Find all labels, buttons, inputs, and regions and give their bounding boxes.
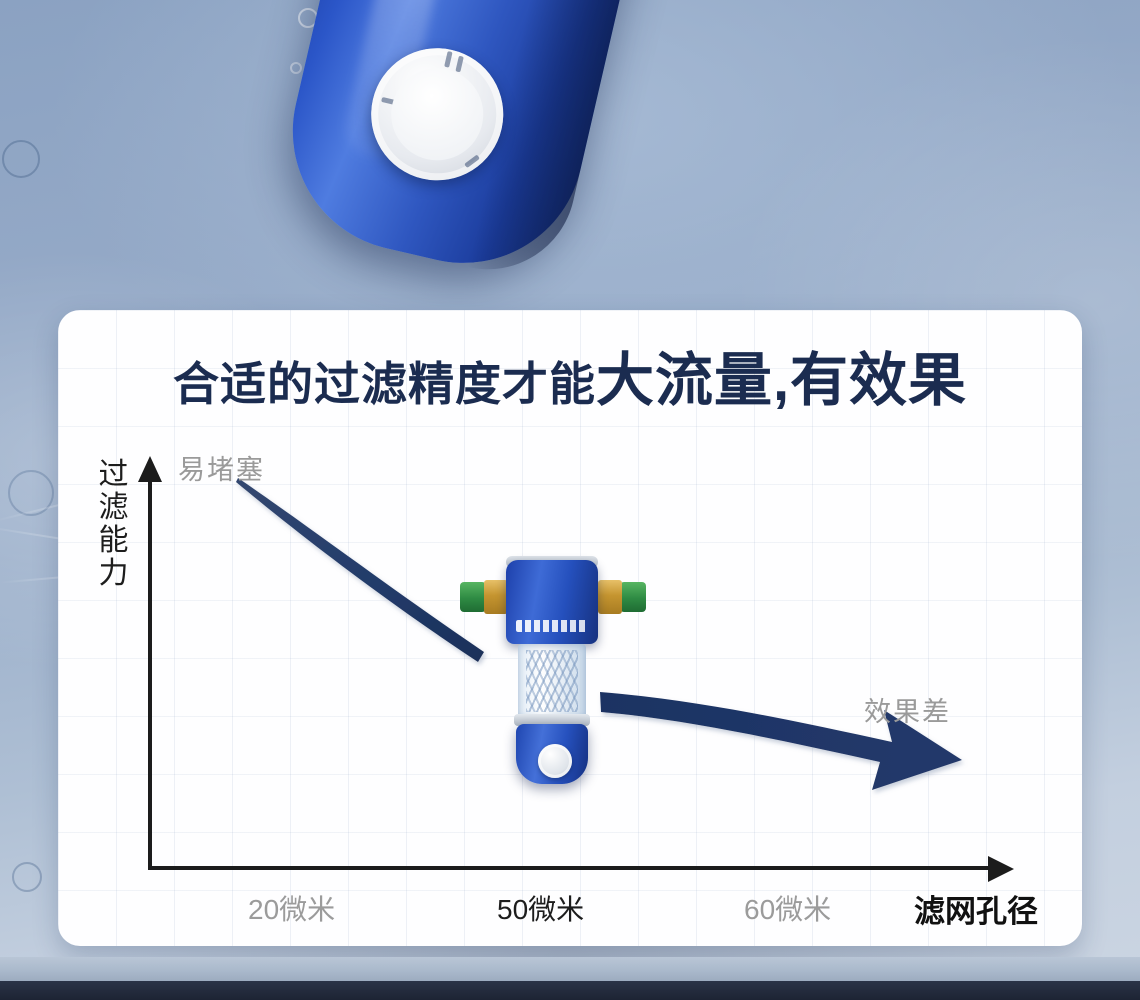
title-part-small: 合适的过滤精度才能 <box>173 358 596 410</box>
dial-tick <box>455 56 463 73</box>
pre-filter-product-image <box>466 548 640 788</box>
drain-valve-knob-icon <box>538 744 572 778</box>
x-tick-60: 60微米 <box>744 888 831 928</box>
annotation-poor-effect: 效果差 <box>864 690 951 729</box>
green-outlet-pipe <box>620 582 646 612</box>
x-axis-arrow-icon <box>988 856 1014 882</box>
x-tick-50: 50微米 <box>497 888 584 928</box>
dial-tick <box>444 51 452 68</box>
dial-tick <box>464 154 480 168</box>
y-axis-line <box>148 478 152 870</box>
title-part-big: 大流量,有效果 <box>596 348 967 413</box>
product-detail-page: 合适的过滤精度才能大流量,有效果 过滤能力 <box>0 0 1140 1000</box>
bottom-dark-band <box>0 981 1140 1000</box>
page-title: 合适的过滤精度才能大流量,有效果 <box>0 352 1140 410</box>
x-tick-20: 20微米 <box>248 888 335 928</box>
water-bubble-icon <box>12 862 42 892</box>
brass-fitting <box>598 580 622 614</box>
water-bubble-icon <box>290 62 302 74</box>
bottom-light-band <box>0 957 1140 983</box>
brass-fitting <box>484 580 508 614</box>
water-bubble-icon <box>8 470 54 516</box>
dial-tick <box>381 97 398 105</box>
filter-mesh <box>526 650 578 712</box>
x-axis-label: 滤网孔径 <box>914 886 1038 931</box>
water-bubble-icon <box>2 140 40 178</box>
product-brand-logo <box>516 620 588 632</box>
green-inlet-pipe <box>460 582 486 612</box>
annotation-clog: 易堵塞 <box>178 448 265 487</box>
x-axis-line <box>150 866 996 870</box>
y-axis-label: 过滤能力 <box>94 458 134 590</box>
